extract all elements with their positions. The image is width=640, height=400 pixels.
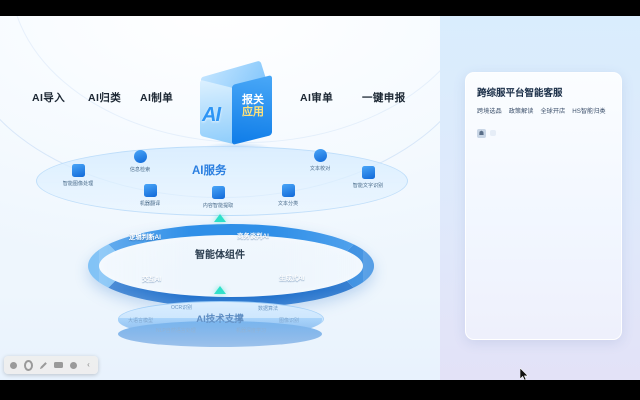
base-up-arrow-icon bbox=[214, 286, 226, 294]
service-item-2: 机器翻译 bbox=[115, 184, 185, 207]
collapse-chevron-icon[interactable]: ‹ bbox=[84, 361, 93, 370]
ring-segment-1: 商务谈判AI bbox=[237, 231, 269, 240]
process-step-3: AI制单 bbox=[140, 90, 173, 105]
cube-cn-label: 报关 应用 bbox=[236, 94, 270, 118]
chat-suggestion-chips: 跨境选品 政策解读 全球开店 HS智能归类 bbox=[477, 106, 613, 115]
base-tag-3: 图像识别 bbox=[279, 317, 299, 324]
service-label-4: 文本分类 bbox=[254, 199, 321, 207]
service-item-3: 内容智能提取 bbox=[183, 186, 253, 209]
base-bottom-face bbox=[118, 321, 322, 347]
service-label-6: 智能文字识别 bbox=[334, 181, 401, 189]
presentation-slide: AI导入 AI归类 AI制单 AI审单 一键申报 AI 报关 应用 AI bbox=[0, 16, 440, 380]
translate-icon bbox=[144, 184, 157, 197]
screen-recording-stage: AI导入 AI归类 AI制单 AI审单 一键申报 AI 报关 应用 AI bbox=[0, 0, 640, 400]
process-step-5: 一键申报 bbox=[362, 90, 406, 105]
proofread-icon bbox=[314, 149, 327, 162]
base-tag-1: 数据算法 bbox=[258, 305, 278, 312]
chat-message-row: ☗ bbox=[477, 129, 496, 138]
base-tag-2: 大语言模型 bbox=[128, 317, 153, 324]
service-label-1: 智能图像处理 bbox=[44, 179, 111, 187]
screen-icon[interactable] bbox=[54, 361, 63, 370]
document-icon bbox=[212, 186, 225, 199]
base-title: AI技术支撑 bbox=[118, 311, 322, 325]
service-item-4: 文本分类 bbox=[253, 184, 323, 207]
pencil-icon[interactable] bbox=[39, 361, 48, 370]
ring-up-arrow-icon bbox=[214, 214, 226, 222]
service-item-0: 信息检索 bbox=[105, 150, 175, 173]
chat-message-bubble bbox=[490, 130, 496, 136]
service-item-1: 智能图像处理 bbox=[43, 164, 113, 187]
service-label-0: 信息检索 bbox=[106, 165, 173, 173]
chat-side-panel: 跨综服平台智能客服 跨境选品 政策解读 全球开店 HS智能归类 ☗ bbox=[440, 16, 640, 380]
mouse-cursor bbox=[520, 368, 529, 380]
chat-card: 跨综服平台智能客服 跨境选品 政策解读 全球开店 HS智能归类 ☗ bbox=[465, 72, 622, 340]
service-item-6: 智能文字识别 bbox=[333, 166, 403, 189]
ocr-icon bbox=[362, 166, 375, 179]
process-step-1: AI导入 bbox=[32, 90, 65, 105]
recording-toolbar[interactable]: ‹ bbox=[4, 356, 98, 374]
ai-cube-graphic: AI 报关 应用 bbox=[198, 68, 276, 150]
globe-icon bbox=[134, 150, 147, 163]
agent-components-ring: 智能体组件 逻辑判断AI 商务谈判AI 交互AI 生成式AI bbox=[88, 220, 352, 296]
base-top-face bbox=[118, 301, 324, 337]
process-step-4: AI审单 bbox=[300, 90, 333, 105]
chat-chip-0[interactable]: 跨境选品 bbox=[477, 106, 502, 115]
process-step-2: AI归类 bbox=[88, 90, 121, 105]
cube-ai-label: AI bbox=[202, 104, 220, 127]
chat-chip-1[interactable]: 政策解读 bbox=[509, 106, 534, 115]
image-icon bbox=[72, 164, 85, 177]
base-tag-5: 机器深度学习 bbox=[236, 327, 266, 334]
ring-segment-3: 生成式AI bbox=[279, 273, 305, 282]
letterbox-top bbox=[0, 0, 640, 16]
base-tag-0: OCR识别 bbox=[171, 304, 192, 311]
emoji-icon[interactable] bbox=[69, 361, 78, 370]
base-tag-4: NLP自然语言处理 bbox=[156, 327, 196, 334]
assistant-avatar: ☗ bbox=[477, 129, 486, 138]
record-icon[interactable] bbox=[9, 361, 18, 370]
ring-segment-2: 交互AI bbox=[142, 274, 161, 283]
stop-icon[interactable] bbox=[24, 361, 33, 370]
chat-title: 跨综服平台智能客服 bbox=[477, 85, 563, 99]
cube-cn-line1: 报关 bbox=[236, 94, 270, 106]
service-label-2: 机器翻译 bbox=[116, 199, 183, 207]
ring-title: 智能体组件 bbox=[88, 246, 352, 261]
ai-services-title: AI服务 bbox=[192, 162, 227, 178]
letterbox-bottom bbox=[0, 380, 640, 400]
ai-tech-base: AI技术支撑 OCR识别 数据算法 大语言模型 图像识别 NLP自然语言处理 机… bbox=[118, 301, 322, 347]
chat-chip-2[interactable]: 全球开店 bbox=[541, 106, 566, 115]
category-icon bbox=[282, 184, 295, 197]
cube-cn-line2: 应用 bbox=[236, 106, 270, 118]
service-label-3: 内容智能提取 bbox=[184, 201, 251, 209]
base-side bbox=[118, 318, 322, 338]
chat-chip-3[interactable]: HS智能归类 bbox=[572, 106, 605, 115]
ring-segment-0: 逻辑判断AI bbox=[129, 232, 161, 241]
video-canvas: AI导入 AI归类 AI制单 AI审单 一键申报 AI 报关 应用 AI bbox=[0, 16, 640, 380]
